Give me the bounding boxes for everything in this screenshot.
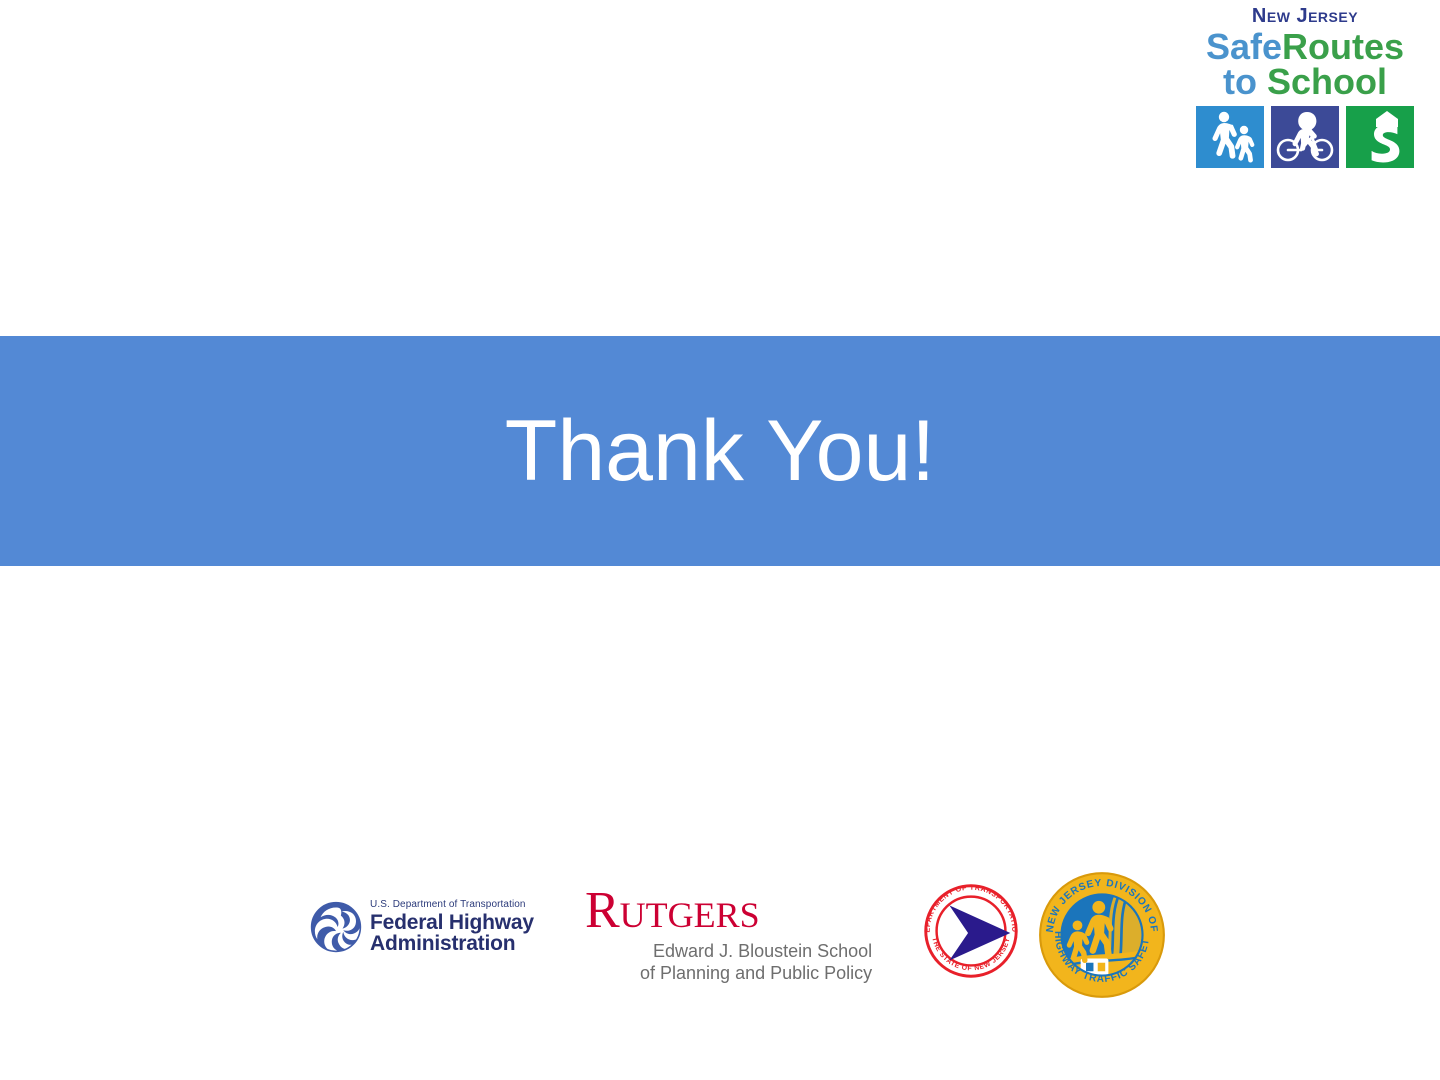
slide-canvas: New Jersey SafeRoutes to School [0, 0, 1440, 1080]
srts-word-school: School [1267, 61, 1387, 102]
srts-word-to: to [1223, 61, 1257, 102]
rutgers-school-line2: of Planning and Public Policy [640, 963, 872, 985]
slide-title: Thank You! [505, 408, 935, 494]
nj-highway-traffic-safety-seal: NEW JERSEY DIVISION OF HIGHWAY TRAFFIC S… [1038, 870, 1166, 1000]
srts-state-label: New Jersey [1185, 6, 1425, 26]
rutgers-logo: Rutgers Edward J. Bloustein School of Pl… [585, 886, 872, 985]
bicycle-tile [1271, 106, 1339, 168]
fhwa-name-line1: Federal Highway [370, 912, 534, 933]
walking-adult-and-child-icon [1196, 106, 1264, 168]
fhwa-logo: U.S. Department of Transportation Federa… [310, 900, 534, 955]
njdot-seal-icon: DEPARTMENT OF TRANSPORTATION THE STATE O… [912, 872, 1030, 990]
nj-highway-traffic-safety-seal-icon: NEW JERSEY DIVISION OF HIGHWAY TRAFFIC S… [1038, 870, 1166, 1000]
bicyclist-icon [1271, 106, 1339, 168]
fhwa-name-line2: Administration [370, 933, 534, 954]
njdot-seal: DEPARTMENT OF TRANSPORTATION THE STATE O… [912, 872, 1030, 990]
title-banner: Thank You! [0, 336, 1440, 566]
fhwa-text-block: U.S. Department of Transportation Federa… [370, 900, 534, 955]
srts-wordmark-line1: SafeRoutes [1185, 29, 1425, 64]
rutgers-school-line1: Edward J. Bloustein School [640, 941, 872, 963]
route-tile [1346, 106, 1414, 168]
partner-logo-row: U.S. Department of Transportation Federa… [300, 862, 1200, 1012]
srts-icon-tiles [1185, 106, 1425, 168]
nj-safe-routes-to-school-logo: New Jersey SafeRoutes to School [1185, 6, 1425, 188]
fhwa-department-line: U.S. Department of Transportation [370, 900, 534, 910]
winding-road-to-school-icon [1346, 106, 1414, 168]
srts-wordmark-line2: to School [1185, 64, 1425, 99]
rutgers-school-name: Edward J. Bloustein School of Planning a… [640, 941, 872, 985]
fhwa-triskelion-icon [310, 901, 362, 953]
pedestrian-tile [1196, 106, 1264, 168]
rutgers-wordmark: Rutgers [585, 886, 872, 935]
srts-wordmark: SafeRoutes to School [1185, 29, 1425, 100]
